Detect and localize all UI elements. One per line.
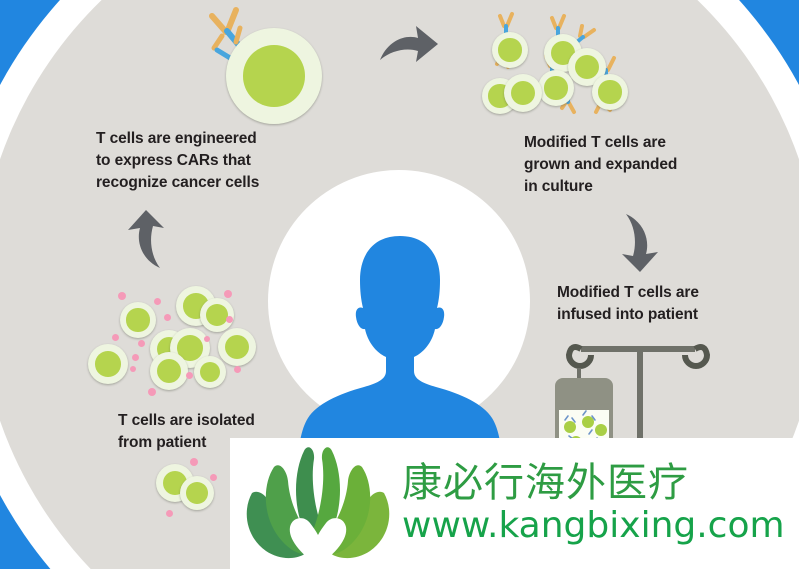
blood-dot xyxy=(112,334,119,341)
isolated-cell xyxy=(218,328,256,366)
blood-dot xyxy=(226,316,233,323)
patient-silhouette xyxy=(290,230,510,470)
lotus-leaf-logo-icon xyxy=(238,441,398,566)
blood-dot xyxy=(190,458,198,466)
blood-dot xyxy=(148,388,156,396)
blood-dot xyxy=(118,292,126,300)
brand-url: www.kangbixing.com xyxy=(402,506,785,546)
blood-dot xyxy=(224,290,232,298)
blood-dot xyxy=(166,510,173,517)
arrow-down-icon xyxy=(614,212,668,274)
step-label-infused: Modified T cells are infused into patien… xyxy=(557,282,699,326)
arrow-right-icon xyxy=(378,24,440,74)
blood-dot xyxy=(186,372,193,379)
cluster-cell xyxy=(592,74,628,110)
isolated-cell xyxy=(194,356,226,388)
isolated-cell xyxy=(180,476,214,510)
infographic-canvas: T cells are engineered to express CARs t… xyxy=(0,0,799,569)
blood-dot xyxy=(130,366,136,372)
isolated-cell xyxy=(120,302,156,338)
watermark-bar: 康必行海外医疗 www.kangbixing.com xyxy=(230,438,799,569)
expanded-tcell-cluster xyxy=(470,8,635,120)
step-label-engineered: T cells are engineered to express CARs t… xyxy=(96,128,259,194)
arrow-up-icon xyxy=(118,206,172,270)
blood-dot xyxy=(138,340,145,347)
blood-dot xyxy=(234,366,241,373)
cluster-cell xyxy=(504,74,542,112)
watermark-text-block: 康必行海外医疗 www.kangbixing.com xyxy=(402,462,785,546)
blood-dot xyxy=(210,474,217,481)
blood-dot xyxy=(164,314,171,321)
blood-dot xyxy=(154,298,161,305)
cluster-cell xyxy=(492,32,528,68)
blood-dot xyxy=(204,336,210,342)
brand-name-cn: 康必行海外医疗 xyxy=(402,462,785,504)
isolated-cell xyxy=(88,344,128,384)
engineered-tcell xyxy=(226,28,322,124)
cluster-cell xyxy=(538,70,574,106)
engineered-tcell-illustration xyxy=(196,2,346,124)
isolated-cell xyxy=(200,298,234,332)
step-label-grown: Modified T cells are grown and expanded … xyxy=(524,132,677,198)
isolated-cell xyxy=(150,352,188,390)
blood-dot xyxy=(132,354,139,361)
